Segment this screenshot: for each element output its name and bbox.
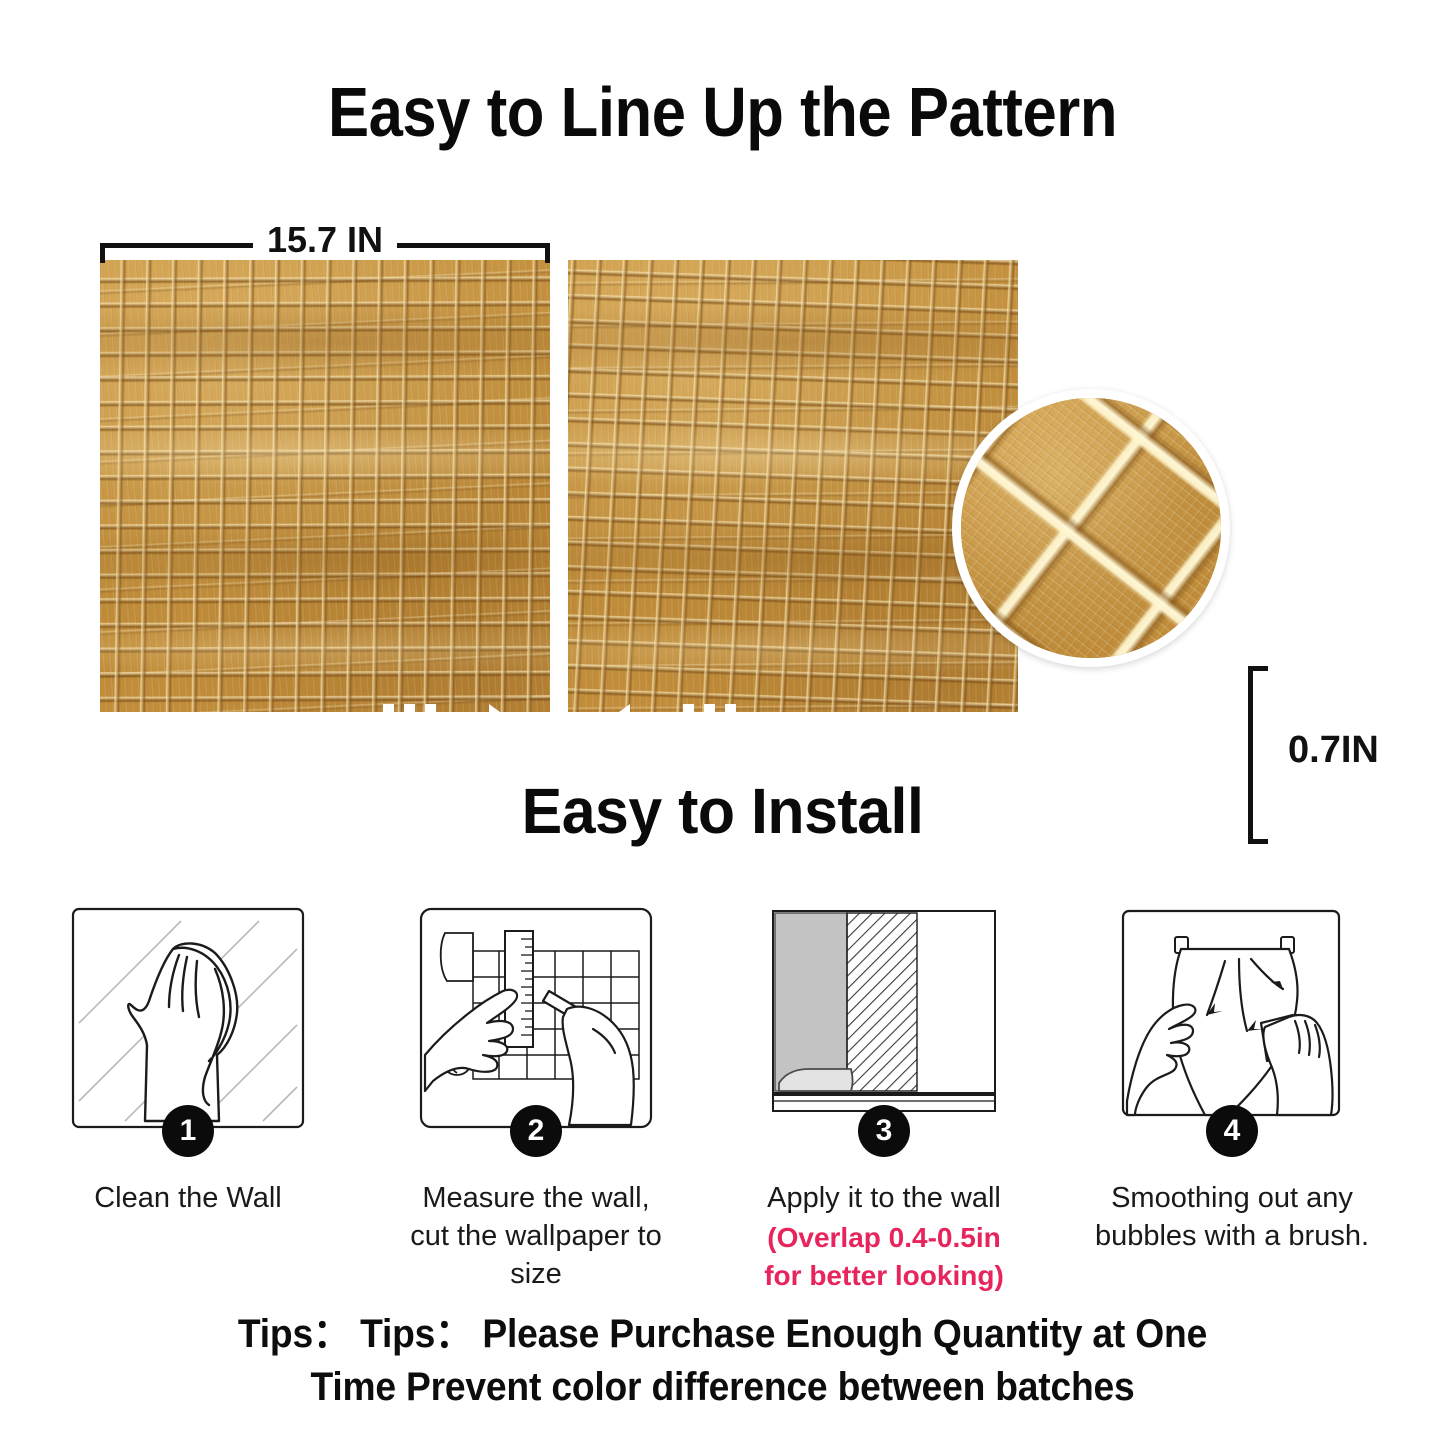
install-step-3: 3 Apply it to the wall (Overlap 0.4-0.5i… [734,905,1034,1295]
step-caption-line2: bubbles with a brush. [1095,1220,1369,1252]
arrow-dash [683,704,694,748]
width-measurement-bracket [100,243,550,263]
step-caption-line1: Smoothing out any [1111,1182,1353,1214]
height-measurement-label: 0.7IN [1288,729,1379,772]
wallpaper-swatch-left [100,260,550,712]
pattern-demo-section: 15.7 IN 0.7IN [0,215,1445,735]
step-note-line1: (Overlap 0.4-0.5in [734,1219,1034,1257]
arrow-dash [404,704,415,748]
arrow-dash [383,704,394,748]
tips-line-2: Time Prevent color difference between ba… [51,1361,1395,1414]
install-step-1: 1 Clean the Wall [38,905,338,1217]
arrow-left-shape [600,704,678,748]
step-note: (Overlap 0.4-0.5in for better looking) [734,1219,1034,1295]
arrow-dash [425,704,436,748]
tips-footer: Tips： Tips： Please Purchase Enough Quant… [0,1308,1445,1414]
croc-texture-magnified [952,389,1230,667]
infographic-page: Easy to Line Up the Pattern 15.7 IN [0,0,1445,1445]
step-caption: Clean the Wall [94,1182,282,1214]
step-badge: 2 [510,1105,562,1157]
wallpaper-swatch-right [568,260,1018,712]
step-badge: 4 [1206,1105,1258,1157]
step-caption: Apply it to the wall [767,1182,1001,1214]
arrow-left-icon [600,697,741,755]
pattern-magnified-circle [952,389,1230,667]
install-step-4: 4 Smoothing out any bubbles with a brush… [1082,905,1382,1255]
arrow-right-icon [378,697,519,755]
step-caption-line1: Measure the wall, [422,1182,649,1214]
arrow-right-shape [441,704,519,748]
ruler-and-knife-cutting-icon: 2 [417,905,655,1131]
install-steps: 1 Clean the Wall [0,905,1445,1325]
step-badge: 1 [162,1105,214,1157]
arrow-dash [704,704,715,748]
page-title-install: Easy to Install [36,772,1409,850]
page-title-pattern: Easy to Line Up the Pattern [87,70,1359,154]
arrow-dash [725,704,736,748]
install-step-2: 2 Measure the wall, cut the wallpaper to… [386,905,686,1293]
step-badge: 3 [858,1105,910,1157]
apply-panel-to-wall-icon: 3 [765,905,1003,1131]
step-caption-line2: cut the wallpaper to size [410,1220,661,1290]
croc-texture [100,260,550,712]
croc-texture [568,260,1018,712]
tips-line-1: Tips： Tips： Please Purchase Enough Quant… [51,1308,1395,1361]
hand-wiping-wall-icon: 1 [69,905,307,1131]
step-note-line2: for better looking) [734,1257,1034,1295]
smoothing-with-brush-icon: 4 [1113,905,1351,1131]
